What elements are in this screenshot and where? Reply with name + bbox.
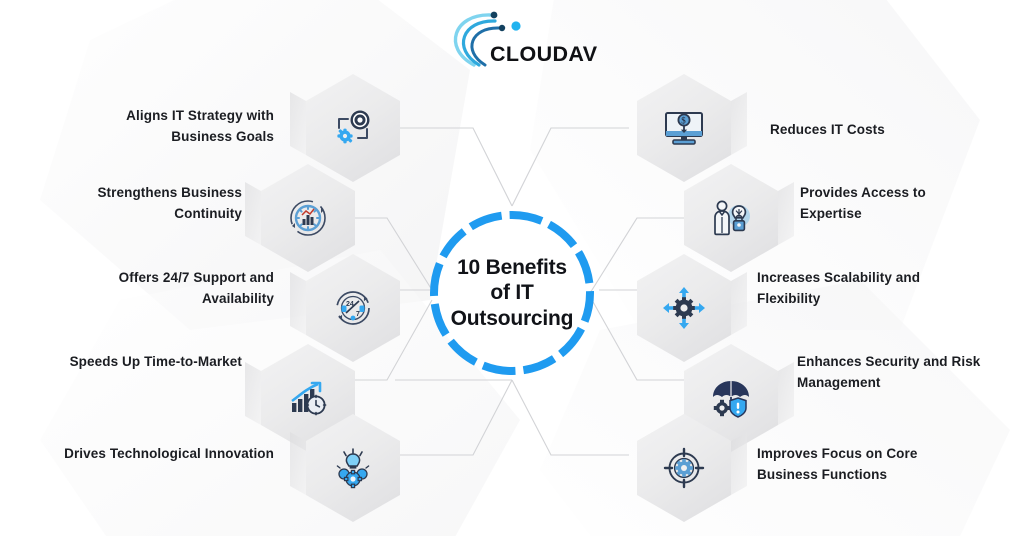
center-title: 10 Benefits of IT Outsourcing (425, 206, 599, 380)
infographic-canvas: CLOUDAVIZE (0, 0, 1024, 536)
benefit-label-drives-technological-innovation: Drives Technological Innovation (62, 444, 274, 465)
center-title-line-1: 10 Benefits (457, 255, 567, 281)
umbrella-shield-gear-icon (708, 375, 754, 421)
target-gear-icon (330, 105, 376, 151)
benefit-label-speeds-up-time-to-market: Speeds Up Time-to-Market (62, 352, 242, 373)
benefit-label-enhances-security: Enhances Security and Risk Management (797, 352, 983, 394)
lightbulb-gears-icon (330, 445, 376, 491)
svg-text:7: 7 (356, 311, 360, 318)
center-title-line-3: Outsourcing (451, 306, 574, 332)
monitor-cost-down-icon: $ (661, 105, 707, 151)
benefit-label-increases-scalability: Increases Scalability and Flexibility (757, 268, 971, 310)
growth-chart-clock-icon (285, 375, 331, 421)
benefit-label-strengthens-business-continuity: Strengthens Business Continuity (62, 183, 242, 225)
continuity-cycle-chart-icon (285, 195, 331, 241)
consultant-expertise-icon (708, 195, 754, 241)
benefit-label-reduces-it-costs: Reduces IT Costs (770, 120, 982, 141)
benefit-label-improves-focus-on-core: Improves Focus on Core Business Function… (757, 444, 971, 486)
center-hub: 10 Benefits of IT Outsourcing (425, 206, 599, 380)
twenty-four-seven-support-icon: 24 7 (330, 285, 376, 331)
benefit-label-aligns-it-strategy: Aligns IT Strategy with Business Goals (62, 106, 274, 148)
benefit-label-provides-access-to-expertise: Provides Access to Expertise (800, 183, 982, 225)
gear-expand-arrows-icon (661, 285, 707, 331)
center-title-line-2: of IT (490, 280, 533, 306)
benefit-label-offers-24-7-support: Offers 24/7 Support and Availability (62, 268, 274, 310)
crosshair-focus-gear-icon (661, 445, 707, 491)
svg-text:$: $ (681, 115, 686, 125)
